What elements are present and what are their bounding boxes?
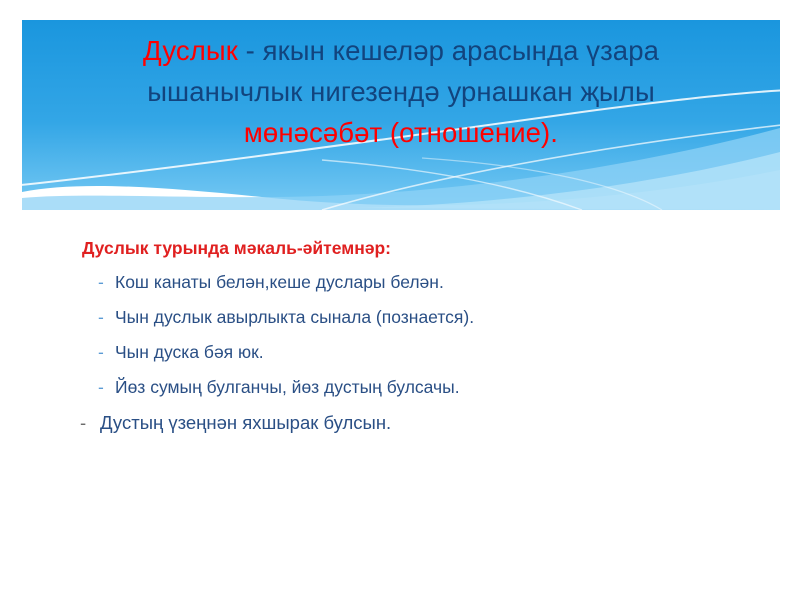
title-keyword: Дуслык bbox=[143, 35, 238, 66]
list-heading: Дуслык турында мәкаль-әйтемнәр: bbox=[82, 236, 752, 260]
list-item-text: Дустың үзеңнән яхшырак булсын. bbox=[100, 409, 391, 437]
title-line-3: мөнәсәбәт (отношение). bbox=[244, 112, 558, 153]
list-item: - Дустың үзеңнән яхшырак булсын. bbox=[52, 409, 752, 437]
list-item-text: Чын дуска бәя юк. bbox=[115, 339, 264, 365]
title-text-block: Дуслык - якын кешеләр арасында үзара ыша… bbox=[22, 20, 780, 210]
title-line-2: ышанычлык нигезендә урнашкан җылы bbox=[147, 71, 655, 112]
list-item: - Йөз сумың булганчы, йөз дустың булсачы… bbox=[52, 374, 752, 400]
title-line-1: Дуслык - якын кешеләр арасында үзара bbox=[143, 30, 659, 71]
bullet-dash-icon: - bbox=[98, 304, 115, 330]
list-item-text: Йөз сумың булганчы, йөз дустың булсачы. bbox=[115, 374, 460, 400]
content-block: Дуслык турында мәкаль-әйтемнәр: - Кош ка… bbox=[52, 236, 752, 446]
bullet-dash-icon: - bbox=[98, 269, 115, 295]
title-line-1-rest: - якын кешеләр арасында үзара bbox=[238, 35, 659, 66]
bullet-dash-icon: - bbox=[98, 374, 115, 400]
list-item: - Чын дуска бәя юк. bbox=[52, 339, 752, 365]
bullet-dash-icon: - bbox=[98, 339, 115, 365]
slide-canvas: Дуслык - якын кешеләр арасында үзара ыша… bbox=[0, 0, 800, 600]
list-item-text: Кош канаты белән,кеше дуслары белән. bbox=[115, 269, 444, 295]
list-item: - Чын дуслык авырлыкта сынала (познается… bbox=[52, 304, 752, 330]
title-banner: Дуслык - якын кешеләр арасында үзара ыша… bbox=[22, 20, 780, 210]
bullet-dash-icon: - bbox=[80, 409, 100, 437]
list-item: - Кош канаты белән,кеше дуслары белән. bbox=[52, 269, 752, 295]
list-item-text: Чын дуслык авырлыкта сынала (познается). bbox=[115, 304, 474, 330]
